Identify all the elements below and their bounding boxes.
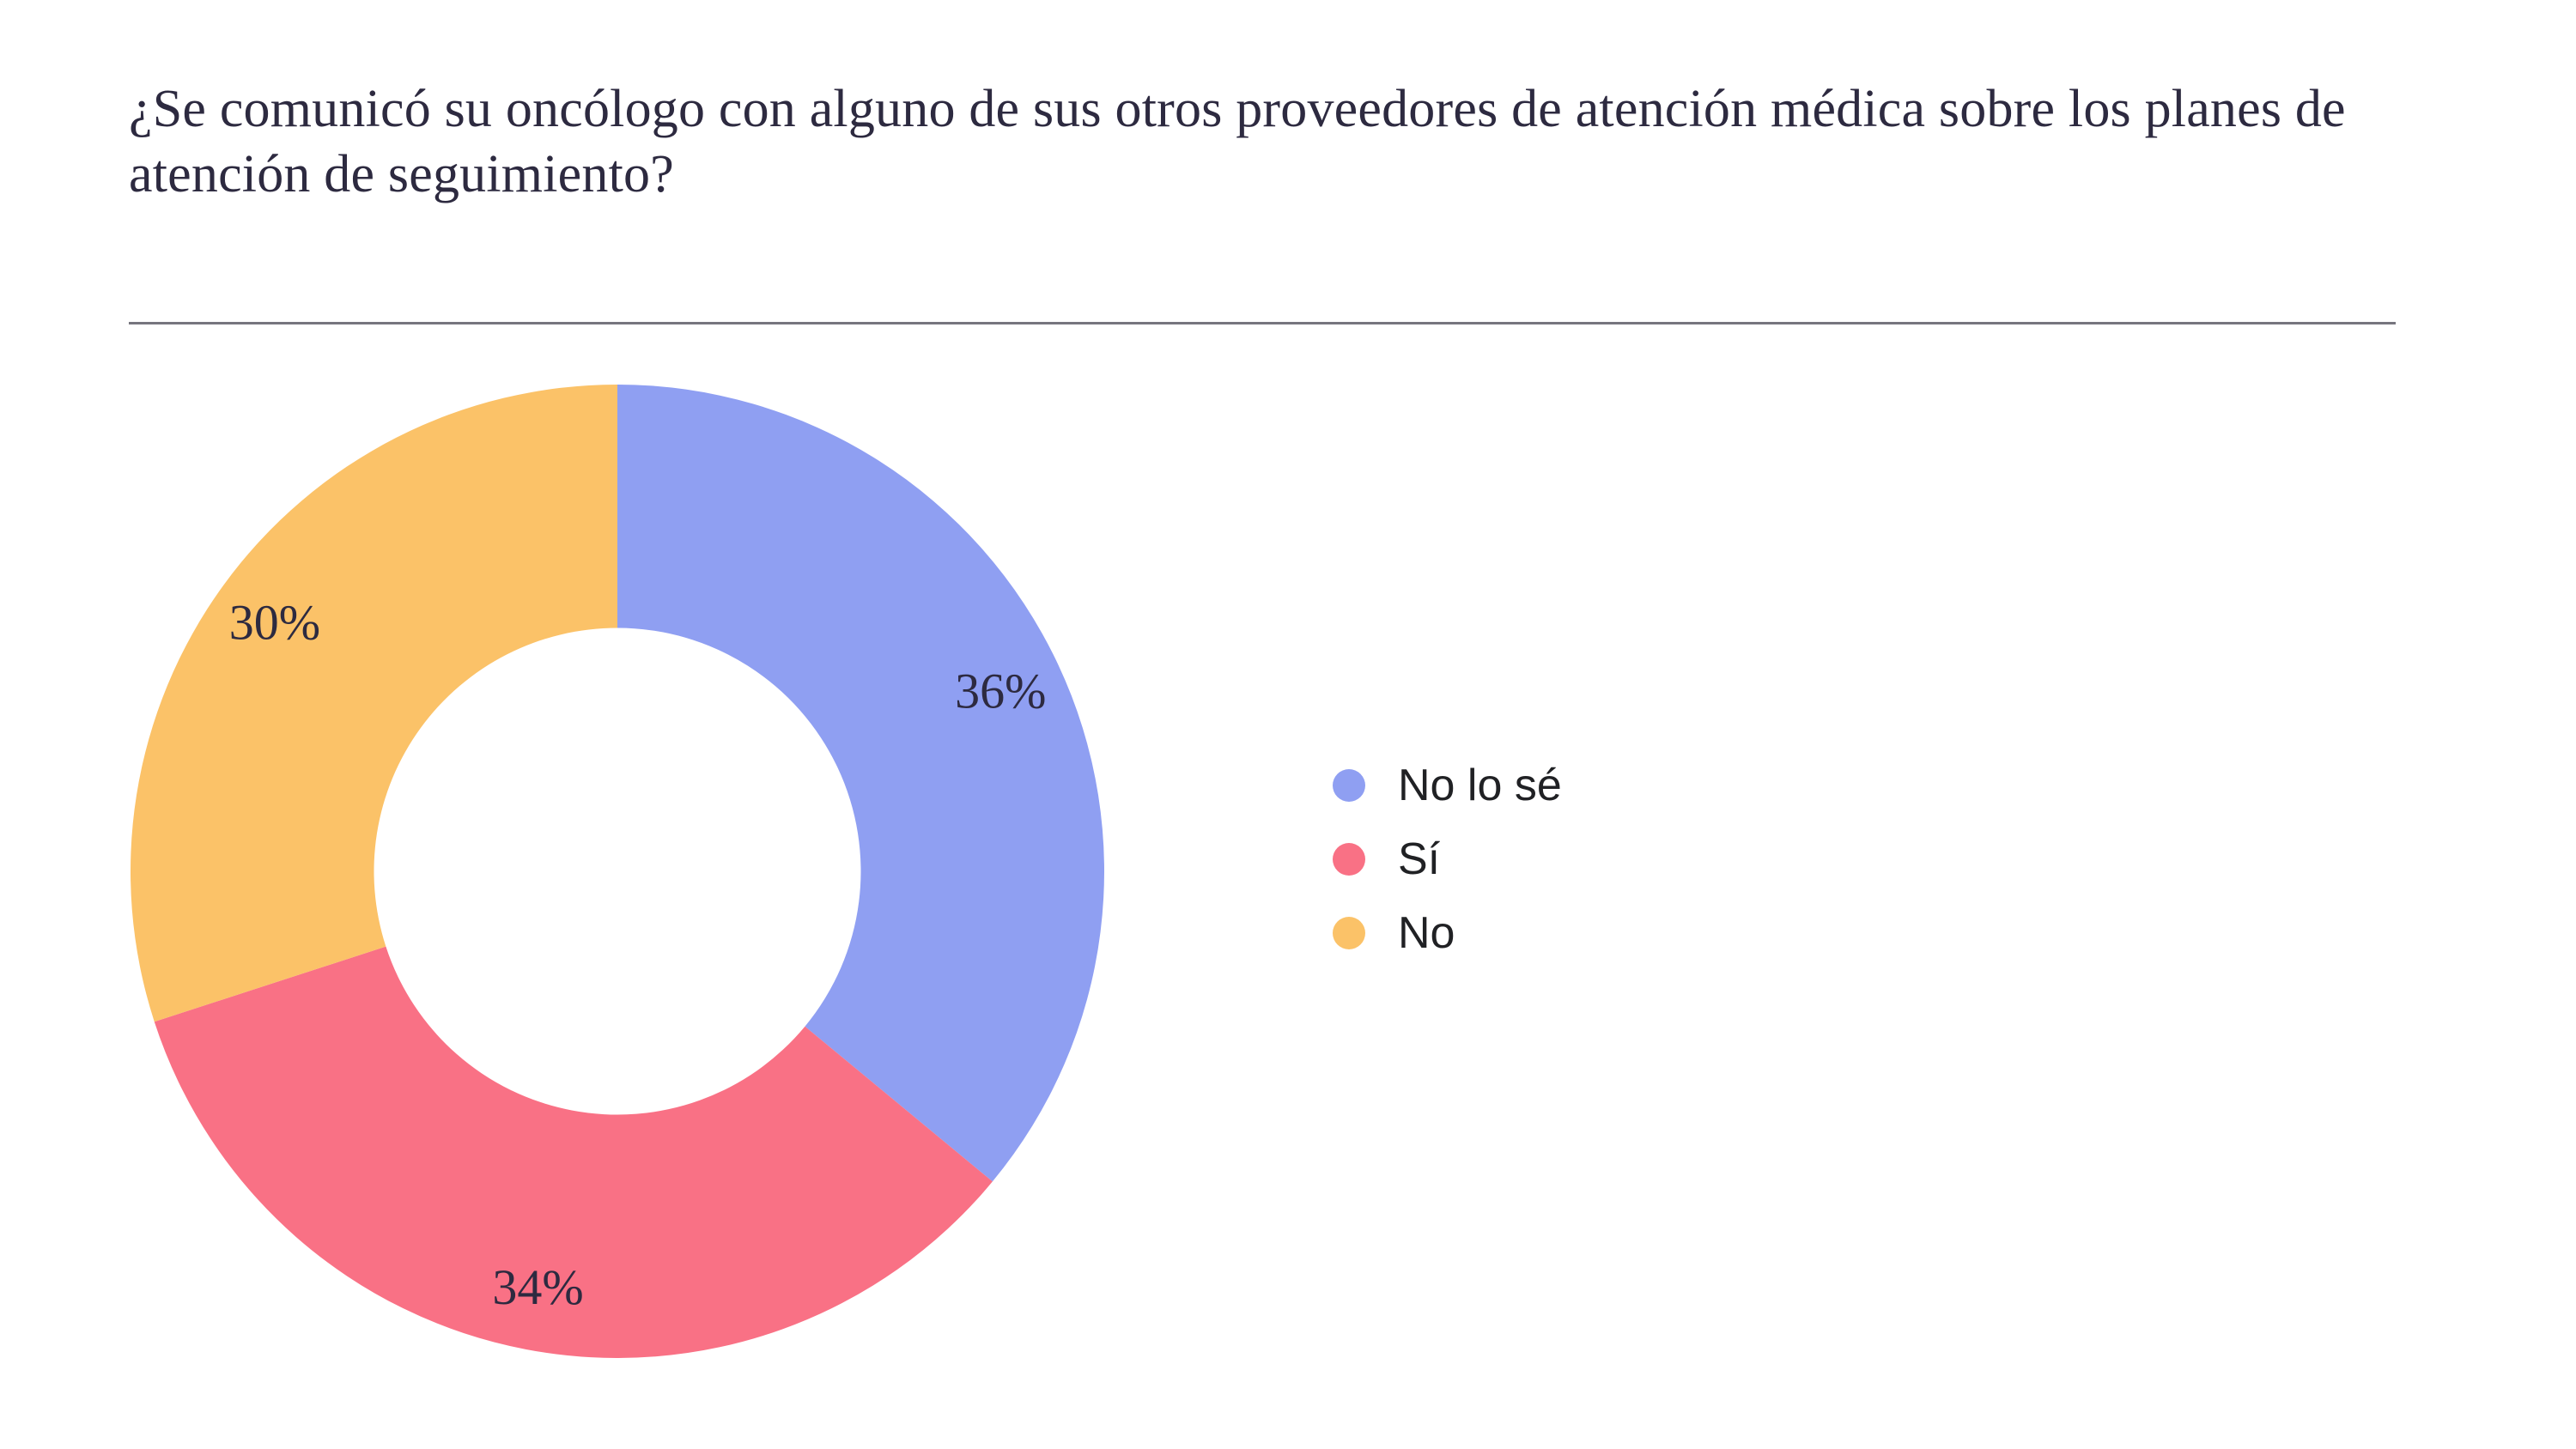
donut-svg: 36% 34% 30% [131,385,1104,1358]
legend-swatch-icon [1333,843,1365,876]
donut-slice-no[interactable] [131,385,617,1022]
legend-label: Sí [1398,837,1440,882]
donut-slices [131,385,1104,1358]
slice-label-si: 34% [492,1259,583,1315]
chart-legend: No lo sé Sí No [1333,749,1934,970]
chart-area: 36% 34% 30% No lo sé Sí No [0,361,1245,1416]
legend-swatch-icon [1333,769,1365,802]
slice-label-no: 30% [229,595,320,651]
legend-item-si[interactable]: Sí [1333,822,1934,896]
slice-label-no-lo-se: 36% [955,663,1046,718]
legend-item-no[interactable]: No [1333,896,1934,970]
donut-chart: 36% 34% 30% [131,385,1104,1358]
page-title: ¿Se comunicó su oncólogo con alguno de s… [129,77,2361,207]
legend-label: No lo sé [1398,763,1562,808]
header-divider [129,322,2396,324]
legend-swatch-icon [1333,917,1365,949]
donut-slice-no-lo-se[interactable] [617,385,1104,1181]
chart-header: ¿Se comunicó su oncólogo con alguno de s… [129,77,2396,207]
legend-item-no-lo-se[interactable]: No lo sé [1333,749,1934,822]
chart-page: ¿Se comunicó su oncólogo con alguno de s… [0,0,2576,1449]
legend-label: No [1398,911,1455,955]
